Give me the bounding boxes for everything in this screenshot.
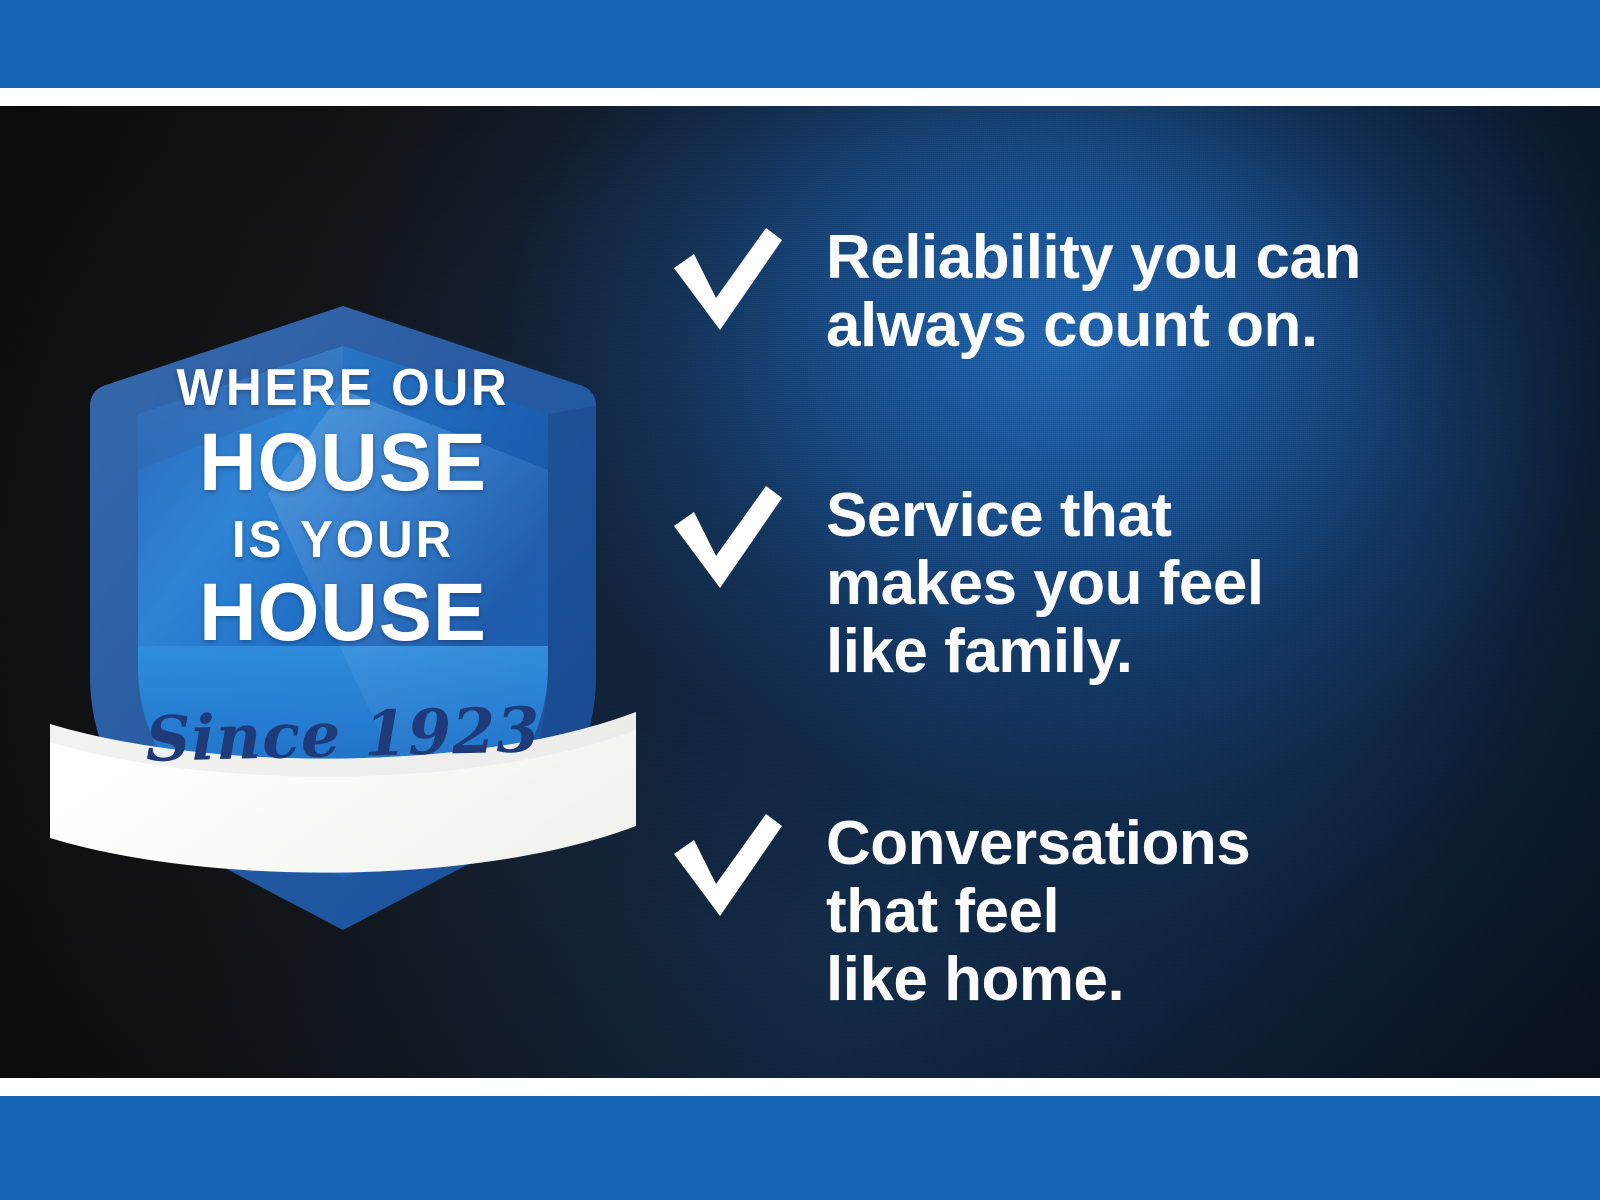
checklist-item-service: Service that makes you feel like family. xyxy=(668,474,1264,687)
artwork-stage: WHERE OUR HOUSE IS YOUR HOUSE Since 1923… xyxy=(0,106,1600,1096)
checkmark-icon xyxy=(668,224,786,336)
checklist-item-label: Reliability you can always count on. xyxy=(826,216,1361,360)
shield-badge: WHERE OUR HOUSE IS YOUR HOUSE Since 1923 xyxy=(78,294,608,934)
checkmark-icon xyxy=(668,810,786,922)
checklist-item-conversations: Conversations that feel like home. xyxy=(668,802,1250,1015)
promo-graphic: WHERE OUR HOUSE IS YOUR HOUSE Since 1923… xyxy=(0,0,1600,1200)
checkmark-icon xyxy=(668,482,786,594)
checklist-item-label: Service that makes you feel like family. xyxy=(826,474,1264,687)
checklist-item-reliability: Reliability you can always count on. xyxy=(668,216,1361,360)
bottom-white-divider xyxy=(0,1078,1600,1096)
checklist-item-label: Conversations that feel like home. xyxy=(826,802,1250,1015)
top-brand-bar xyxy=(0,0,1600,88)
bottom-brand-bar xyxy=(0,1096,1600,1200)
top-white-divider xyxy=(0,88,1600,106)
